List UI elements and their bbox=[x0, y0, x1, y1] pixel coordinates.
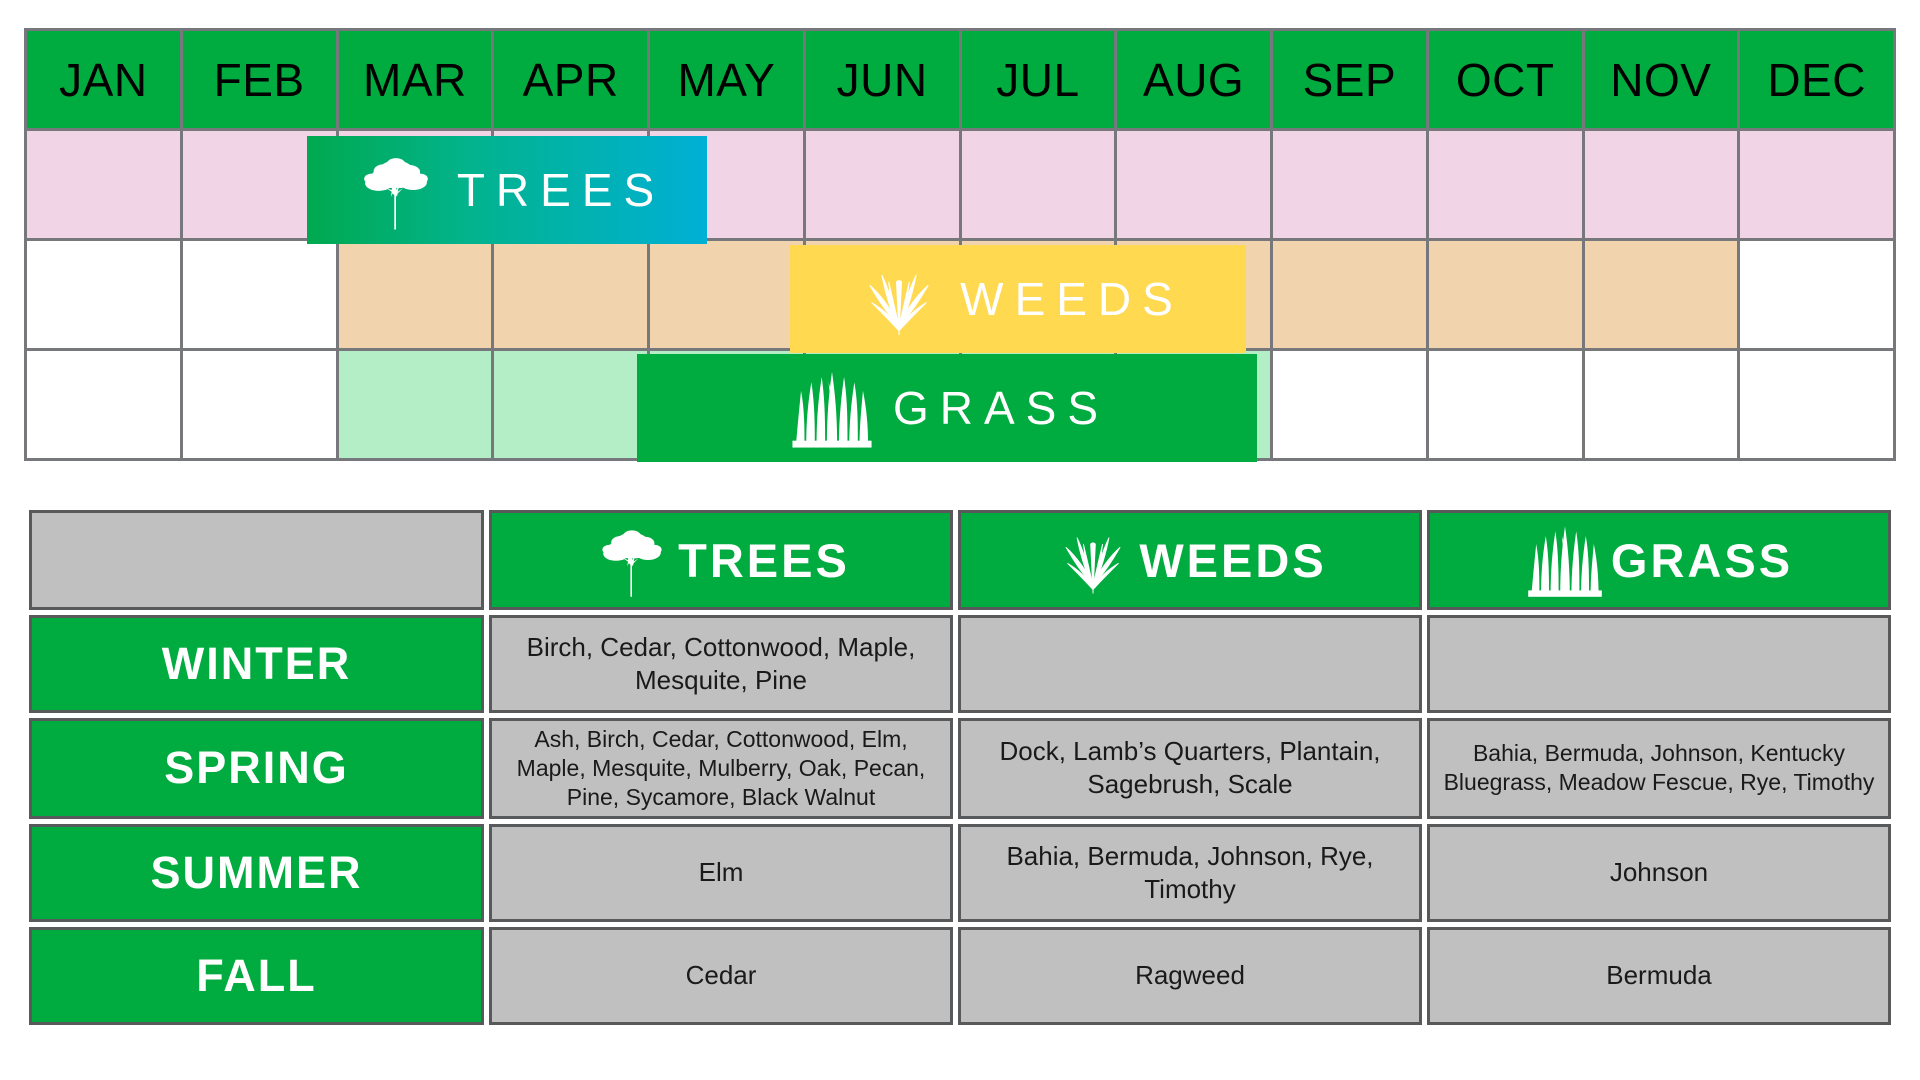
month-header-oct: OCT bbox=[1427, 30, 1583, 130]
grass-cell-oct bbox=[1427, 350, 1583, 460]
seasonal-allergen-table: TREES bbox=[24, 505, 1896, 1030]
trees-cell-nov bbox=[1583, 130, 1739, 240]
allergy-season-chart: JAN FEB MAR APR MAY JUN JUL AUG SEP OCT … bbox=[0, 0, 1920, 1080]
weeds-cell-feb bbox=[181, 240, 337, 350]
summer-weeds-cell: Bahia, Bermuda, Johnson, Rye, Timothy bbox=[958, 824, 1422, 922]
grass-cell-feb bbox=[181, 350, 337, 460]
seasons-col-header-weeds-label: WEEDS bbox=[1139, 533, 1326, 588]
trees-peak-bar: TREES bbox=[307, 136, 707, 244]
month-header-jan: JAN bbox=[26, 30, 182, 130]
spring-grass-cell: Bahia, Bermuda, Johnson, Kentucky Bluegr… bbox=[1427, 718, 1891, 819]
grass-cell-apr bbox=[493, 350, 649, 460]
grass-cell-mar bbox=[337, 350, 493, 460]
weeds-peak-bar: WEEDS bbox=[790, 245, 1246, 353]
month-header-may: MAY bbox=[649, 30, 805, 130]
month-header-mar: MAR bbox=[337, 30, 493, 130]
trees-cell-jun bbox=[804, 130, 960, 240]
month-header-dec: DEC bbox=[1739, 30, 1895, 130]
month-header-jun: JUN bbox=[804, 30, 960, 130]
trees-peak-bar-label: TREES bbox=[457, 163, 665, 217]
seasons-col-header-grass-label: GRASS bbox=[1611, 533, 1793, 588]
table-row: WINTER Birch, Cedar, Cottonwood, Maple, … bbox=[29, 615, 1891, 713]
trees-cell-sep bbox=[1272, 130, 1428, 240]
trees-cell-jan bbox=[26, 130, 182, 240]
grass-peak-bar: GRASS bbox=[637, 354, 1257, 462]
grass-peak-bar-label: GRASS bbox=[893, 381, 1109, 435]
weeds-cell-jan bbox=[26, 240, 182, 350]
weeds-peak-bar-label: WEEDS bbox=[960, 272, 1184, 326]
weed-icon bbox=[1053, 520, 1133, 600]
seasons-col-header-trees: TREES bbox=[489, 510, 953, 610]
seasons-corner-cell bbox=[29, 510, 484, 610]
season-label-summer: SUMMER bbox=[29, 824, 484, 922]
weed-icon bbox=[856, 256, 942, 342]
trees-cell-aug bbox=[1116, 130, 1272, 240]
weeds-cell-may bbox=[649, 240, 805, 350]
trees-cell-jul bbox=[960, 130, 1116, 240]
seasons-col-header-weeds: WEEDS bbox=[958, 510, 1422, 610]
fall-trees-cell: Cedar bbox=[489, 927, 953, 1025]
grass-cell-sep bbox=[1272, 350, 1428, 460]
season-label-fall: FALL bbox=[29, 927, 484, 1025]
tree-icon bbox=[592, 520, 672, 600]
trees-cell-dec bbox=[1739, 130, 1895, 240]
month-header-jul: JUL bbox=[960, 30, 1116, 130]
spring-weeds-cell: Dock, Lamb’s Quarters, Plantain, Sagebru… bbox=[958, 718, 1422, 819]
month-header-sep: SEP bbox=[1272, 30, 1428, 130]
month-header-nov: NOV bbox=[1583, 30, 1739, 130]
winter-grass-cell bbox=[1427, 615, 1891, 713]
seasons-header-row: TREES bbox=[29, 510, 1891, 610]
fall-weeds-cell: Ragweed bbox=[958, 927, 1422, 1025]
weeds-cell-apr bbox=[493, 240, 649, 350]
table-row: FALL Cedar Ragweed Bermuda bbox=[29, 927, 1891, 1025]
month-header-feb: FEB bbox=[181, 30, 337, 130]
grass-cell-dec bbox=[1739, 350, 1895, 460]
fall-grass-cell: Bermuda bbox=[1427, 927, 1891, 1025]
seasons-col-header-trees-label: TREES bbox=[678, 533, 850, 588]
grass-cell-jan bbox=[26, 350, 182, 460]
winter-trees-cell: Birch, Cedar, Cottonwood, Maple, Mesquit… bbox=[489, 615, 953, 713]
summer-grass-cell: Johnson bbox=[1427, 824, 1891, 922]
month-header-row: JAN FEB MAR APR MAY JUN JUL AUG SEP OCT … bbox=[26, 30, 1895, 130]
grass-icon bbox=[1525, 520, 1605, 600]
grass-icon bbox=[789, 365, 875, 451]
month-header-aug: AUG bbox=[1116, 30, 1272, 130]
weeds-cell-nov bbox=[1583, 240, 1739, 350]
spring-trees-cell: Ash, Birch, Cedar, Cottonwood, Elm, Mapl… bbox=[489, 718, 953, 819]
winter-weeds-cell bbox=[958, 615, 1422, 713]
trees-cell-oct bbox=[1427, 130, 1583, 240]
table-row: SUMMER Elm Bahia, Bermuda, Johnson, Rye,… bbox=[29, 824, 1891, 922]
grass-cell-nov bbox=[1583, 350, 1739, 460]
season-label-winter: WINTER bbox=[29, 615, 484, 713]
season-label-spring: SPRING bbox=[29, 718, 484, 819]
weeds-cell-mar bbox=[337, 240, 493, 350]
month-header-apr: APR bbox=[493, 30, 649, 130]
weeds-cell-dec bbox=[1739, 240, 1895, 350]
summer-trees-cell: Elm bbox=[489, 824, 953, 922]
weeds-cell-oct bbox=[1427, 240, 1583, 350]
table-row: SPRING Ash, Birch, Cedar, Cottonwood, El… bbox=[29, 718, 1891, 819]
trees-season-row bbox=[26, 130, 1895, 240]
seasons-col-header-grass: GRASS bbox=[1427, 510, 1891, 610]
weeds-cell-sep bbox=[1272, 240, 1428, 350]
tree-icon bbox=[353, 147, 439, 233]
